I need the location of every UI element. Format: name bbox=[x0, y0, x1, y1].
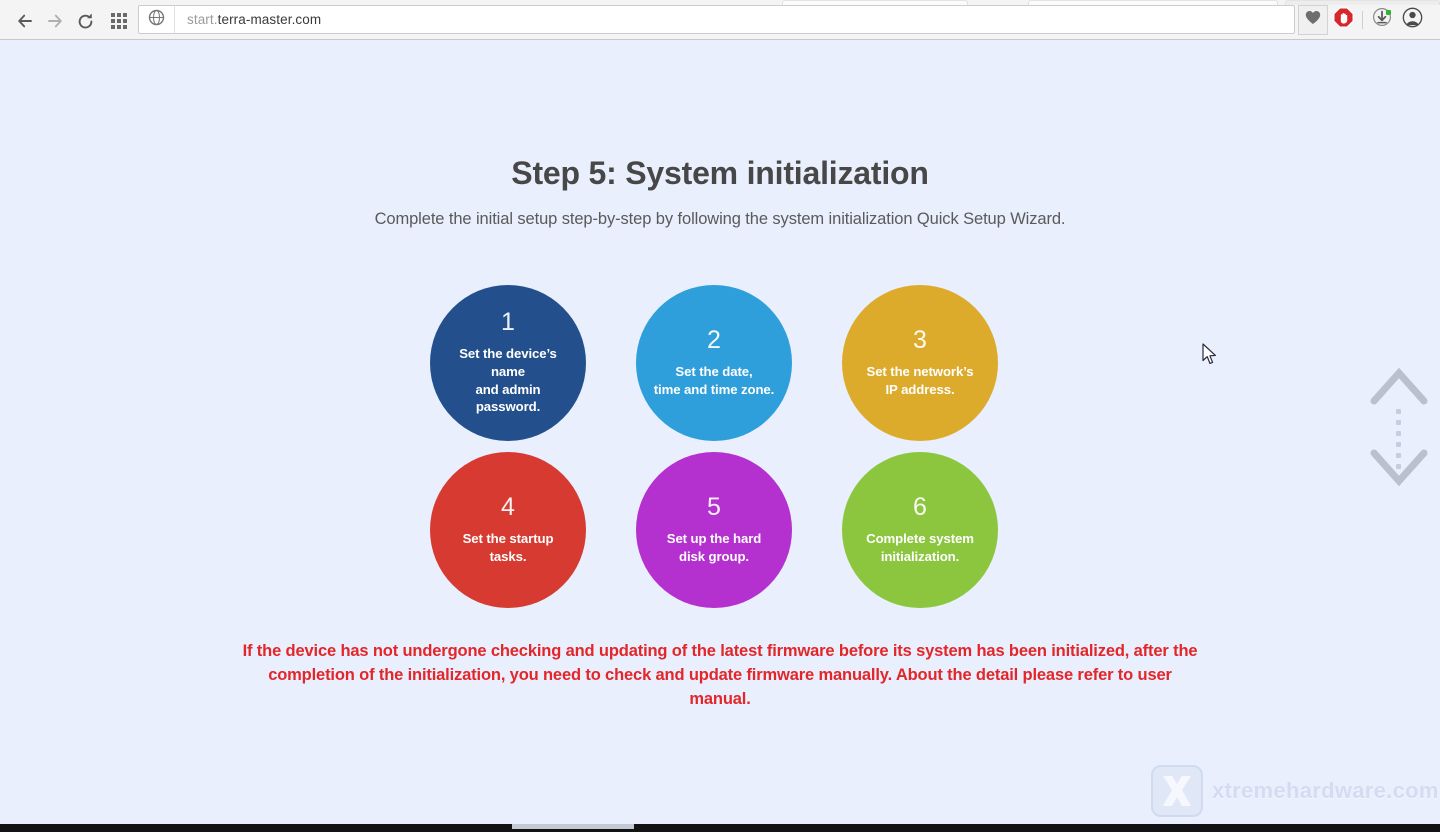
chevron-down-icon bbox=[1370, 476, 1428, 493]
grid-apps-icon bbox=[111, 13, 127, 29]
url-domain: terra-master.com bbox=[218, 12, 322, 27]
scroll-down-button[interactable] bbox=[1370, 443, 1428, 489]
globe-icon bbox=[148, 9, 165, 31]
back-button[interactable] bbox=[10, 8, 40, 34]
step-label: Set the date, time and time zone. bbox=[640, 363, 788, 399]
reload-button[interactable] bbox=[70, 8, 100, 34]
step-label: Set the device’s name and admin password… bbox=[430, 345, 586, 417]
scroll-arrows-overlay bbox=[1370, 365, 1430, 495]
scroll-up-button[interactable] bbox=[1370, 365, 1428, 411]
step-circle-6[interactable]: 6 Complete system initialization. bbox=[842, 452, 998, 608]
step-label: Set the network’s IP address. bbox=[853, 363, 988, 399]
bookmark-heart-button[interactable] bbox=[1298, 5, 1328, 35]
step-circle-3[interactable]: 3 Set the network’s IP address. bbox=[842, 285, 998, 441]
arrow-left-icon bbox=[16, 12, 34, 30]
download-status-dot bbox=[1386, 10, 1391, 15]
heart-icon bbox=[1305, 10, 1321, 30]
firmware-warning-text: If the device has not undergone checking… bbox=[240, 640, 1200, 712]
toolbar-right-actions bbox=[1298, 4, 1427, 35]
downloads-button[interactable] bbox=[1367, 5, 1397, 35]
watermark-text: xtremehardware.com bbox=[1212, 778, 1439, 804]
stop-hand-icon bbox=[1333, 7, 1354, 33]
mouse-cursor bbox=[1202, 343, 1218, 367]
address-bar[interactable]: start.terra-master.com bbox=[138, 5, 1295, 34]
forward-button[interactable] bbox=[40, 8, 70, 34]
step-number: 3 bbox=[913, 328, 927, 353]
step-number: 4 bbox=[501, 495, 515, 520]
step-circle-1[interactable]: 1 Set the device’s name and admin passwo… bbox=[430, 285, 586, 441]
page-subtitle: Complete the initial setup step-by-step … bbox=[0, 210, 1440, 229]
url-text[interactable]: start.terra-master.com bbox=[175, 12, 321, 27]
watermark: xtremehardware.com bbox=[1148, 760, 1424, 822]
xtremehardware-logo-icon bbox=[1148, 763, 1206, 819]
adblock-button[interactable] bbox=[1328, 5, 1358, 35]
setup-steps-grid: 1 Set the device’s name and admin passwo… bbox=[430, 285, 1010, 625]
step-label: Complete system initialization. bbox=[852, 530, 988, 566]
site-identity-button[interactable] bbox=[139, 6, 175, 33]
avatar-icon bbox=[1402, 7, 1423, 33]
toolbar-divider bbox=[1362, 11, 1363, 29]
bottom-taskbar-strip bbox=[0, 824, 1440, 832]
step-circle-5[interactable]: 5 Set up the hard disk group. bbox=[636, 452, 792, 608]
taskbar-segment bbox=[512, 824, 634, 829]
step-number: 2 bbox=[707, 328, 721, 353]
arrow-right-icon bbox=[46, 12, 64, 30]
speed-dial-button[interactable] bbox=[104, 8, 134, 34]
step-number: 1 bbox=[501, 310, 515, 335]
step-label: Set up the hard disk group. bbox=[653, 530, 775, 566]
step-circle-4[interactable]: 4 Set the startup tasks. bbox=[430, 452, 586, 608]
reload-icon bbox=[76, 12, 95, 31]
step-circle-2[interactable]: 2 Set the date, time and time zone. bbox=[636, 285, 792, 441]
url-scheme: start. bbox=[187, 12, 218, 27]
profile-button[interactable] bbox=[1397, 5, 1427, 35]
step-number: 5 bbox=[707, 495, 721, 520]
page-title: Step 5: System initialization bbox=[0, 155, 1440, 192]
navigation-controls bbox=[10, 8, 134, 34]
page-viewport: Step 5: System initialization Complete t… bbox=[0, 40, 1440, 824]
browser-toolbar: start.terra-master.com bbox=[0, 0, 1440, 40]
step-number: 6 bbox=[913, 495, 927, 520]
step-label: Set the startup tasks. bbox=[430, 530, 586, 566]
